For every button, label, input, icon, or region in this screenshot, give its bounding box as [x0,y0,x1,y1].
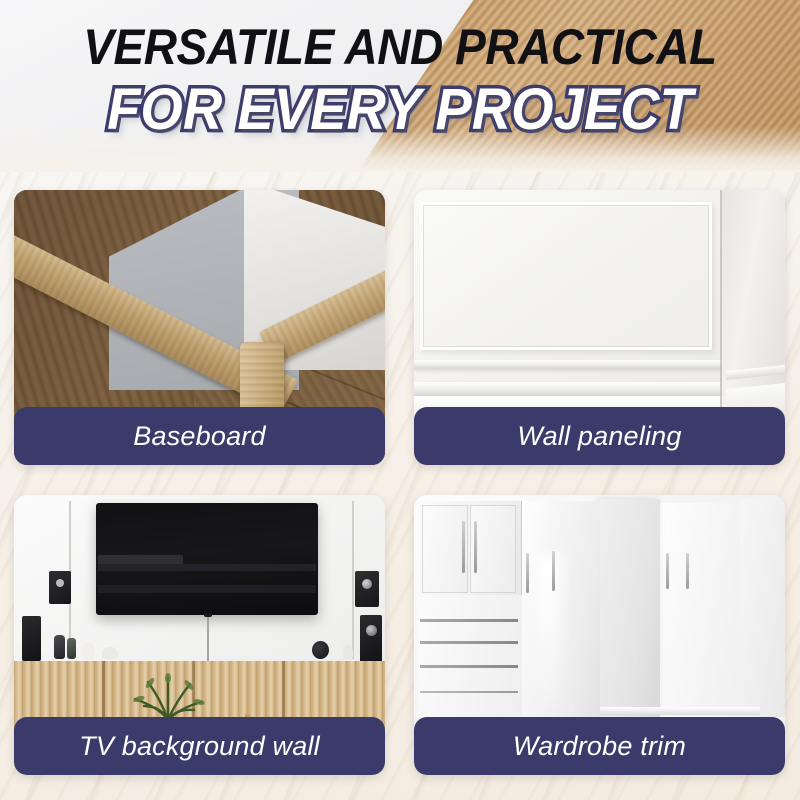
floor-speaker-right [360,615,382,663]
tv-wall-label-text: TV background wall [79,731,320,762]
wardrobe-drawer-line-2 [420,641,518,644]
feature-card-baseboard[interactable]: Baseboard [14,190,385,465]
floor-speaker-right-driver [366,625,377,636]
wardrobe-right-wall [740,499,785,729]
headline-line-1: VERSATILE AND PRACTICAL [32,18,768,76]
paneling-rail-upper [414,360,722,369]
paneling-moulding-frame [420,202,712,350]
decor-vase-5 [312,641,329,659]
decor-vase-3 [82,642,95,659]
television-cable [207,617,209,665]
paneling-corner-line [720,190,722,430]
decor-vase-7 [343,645,353,659]
wardrobe-drawer-line-3 [420,665,518,668]
baseboard-label-bar: Baseboard [14,407,385,465]
wardrobe-label-text: Wardrobe trim [513,731,686,762]
wardrobe-handle-far-2 [686,553,689,589]
wardrobe-handle-far-1 [666,553,669,589]
feature-card-tv-background-wall[interactable]: TV background wall [14,495,385,775]
wall-speaker-left-driver [56,579,64,587]
wardrobe-drawer-line-4 [420,691,518,693]
headline-line-2: FOR EVERY PROJECT [24,78,776,142]
television-reflection-band-3 [98,585,316,593]
feature-card-wardrobe-trim[interactable]: Wardrobe trim [414,495,785,775]
tv-wall-panel-line-right [352,501,354,659]
floor-speaker-left [22,616,41,661]
wardrobe-handle-near-1 [462,521,465,573]
television-reflection-band-1 [98,555,183,564]
wardrobe-handle-middle-2 [552,551,555,591]
potted-plant-icon [130,673,206,721]
decor-vase-1 [54,635,65,659]
paneling-rail-lower [414,382,722,396]
decor-vase-4 [102,647,118,659]
wardrobe-handle-middle-1 [526,553,529,593]
decor-vase-6 [332,640,340,659]
decor-vase-2 [67,638,76,659]
wall-speaker-left [49,571,71,604]
baseboard-label-text: Baseboard [133,421,265,452]
feature-card-wall-paneling[interactable]: Wall paneling [414,190,785,465]
wardrobe-base-trim [600,707,760,715]
feature-card-grid: Baseboard Wall panel [14,190,786,775]
headline-block: VERSATILE AND PRACTICAL FOR EVERY PROJEC… [0,18,800,142]
wardrobe-label-bar: Wardrobe trim [414,717,785,775]
wardrobe-handle-near-2 [474,521,477,573]
wardrobe-drawer-line-1 [420,619,518,622]
tv-wall-label-bar: TV background wall [14,717,385,775]
television-reflection-band-2 [98,564,316,571]
wall-speaker-right-driver [362,579,372,589]
wall-paneling-label-bar: Wall paneling [414,407,785,465]
wardrobe-gloss-glare [536,555,562,705]
wall-speaker-right [355,571,379,607]
product-infographic-poster: VERSATILE AND PRACTICAL FOR EVERY PROJEC… [0,0,800,800]
wall-paneling-label-text: Wall paneling [517,421,681,452]
